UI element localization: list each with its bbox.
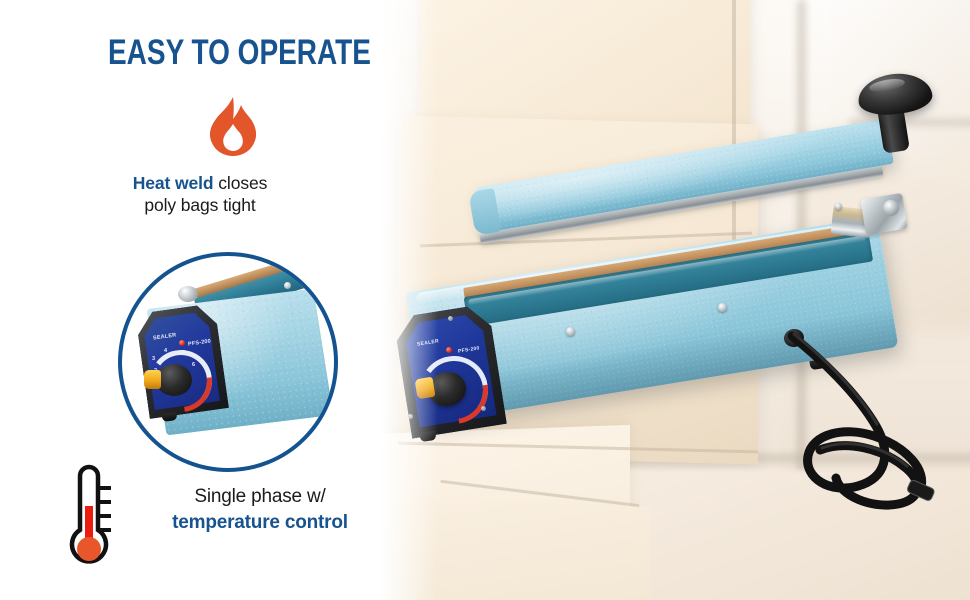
- impulse-sealer-machine: SEALER PFS-200: [380, 0, 970, 600]
- inset-hinge: [178, 286, 198, 302]
- main-product-photo: SEALER PFS-200: [380, 0, 970, 600]
- phase-line2-bold: temperature control: [130, 510, 390, 536]
- inset-screw: [284, 282, 291, 289]
- knob-highlight: [868, 77, 905, 94]
- rubber-foot: [419, 431, 436, 442]
- heat-weld-line2: poly bags tight: [0, 194, 400, 216]
- hinge-screw: [835, 203, 842, 210]
- flame-icon: [205, 95, 261, 157]
- phase-line1: Single phase w/: [194, 486, 325, 507]
- inset-dial-number: 6: [192, 362, 195, 368]
- inset-temperature-knob: [156, 364, 192, 396]
- inset-dial-number: 4: [164, 348, 167, 354]
- hinge-pin: [883, 200, 899, 216]
- feature-text-panel: EASY TO OPERATE Heat weld closes poly ba…: [0, 0, 400, 600]
- feature-heat-weld-text: Heat weld closes poly bags tight: [0, 172, 400, 216]
- heat-weld-rest: closes: [214, 173, 268, 193]
- body-screw: [566, 327, 575, 336]
- inset-power-led-icon: [179, 340, 185, 346]
- handle-knob: [856, 70, 934, 118]
- heat-weld-bold: Heat weld: [133, 173, 214, 193]
- inset-knob-pointer: [144, 370, 161, 389]
- page-title: EASY TO OPERATE: [108, 33, 371, 73]
- thermometer-icon: [66, 462, 118, 570]
- inset-photo: SEALER PFS-200 2 3 4 5 6: [118, 252, 332, 466]
- hinge-bracket: [860, 193, 907, 235]
- product-feature-banner: SEALER PFS-200: [0, 0, 970, 600]
- inset-dial-number: 3: [152, 356, 155, 362]
- control-panel-closeup-circle: SEALER PFS-200 2 3 4 5 6: [118, 252, 338, 472]
- power-cord: [760, 300, 970, 540]
- inset-dial-number: 5: [182, 350, 185, 356]
- temperature-knob-pointer: [415, 377, 436, 400]
- feature-temperature-text: Single phase w/ temperature control: [130, 484, 390, 536]
- body-screw: [718, 303, 727, 312]
